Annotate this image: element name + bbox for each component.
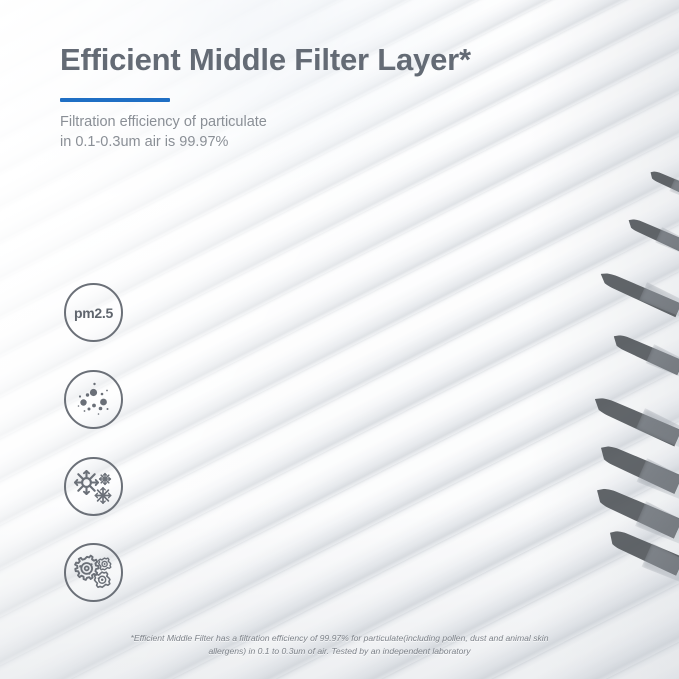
badge-pollen bbox=[64, 543, 123, 602]
pleat-end-cap-shadow bbox=[645, 344, 679, 408]
snowflake-icon bbox=[71, 464, 117, 510]
page-title: Efficient Middle Filter Layer* bbox=[60, 42, 471, 78]
dust-particles-icon bbox=[72, 378, 116, 422]
pm25-text-icon: pm2.5 bbox=[74, 305, 113, 321]
pollen-gear-icon bbox=[71, 550, 117, 596]
page-subtitle: Filtration efficiency of particulate in … bbox=[60, 112, 267, 152]
product-feature-image: Efficient Middle Filter Layer* Filtratio… bbox=[0, 0, 679, 679]
badge-snowflake bbox=[64, 457, 123, 516]
badge-pm25: pm2.5 bbox=[64, 283, 123, 342]
pleat-end-cap-shadow bbox=[639, 282, 679, 352]
accent-rule bbox=[60, 98, 170, 102]
badge-dust bbox=[64, 370, 123, 429]
pleat-end-cap-shadow bbox=[655, 227, 679, 280]
disclaimer-text: *Efficient Middle Filter has a filtratio… bbox=[0, 632, 679, 658]
